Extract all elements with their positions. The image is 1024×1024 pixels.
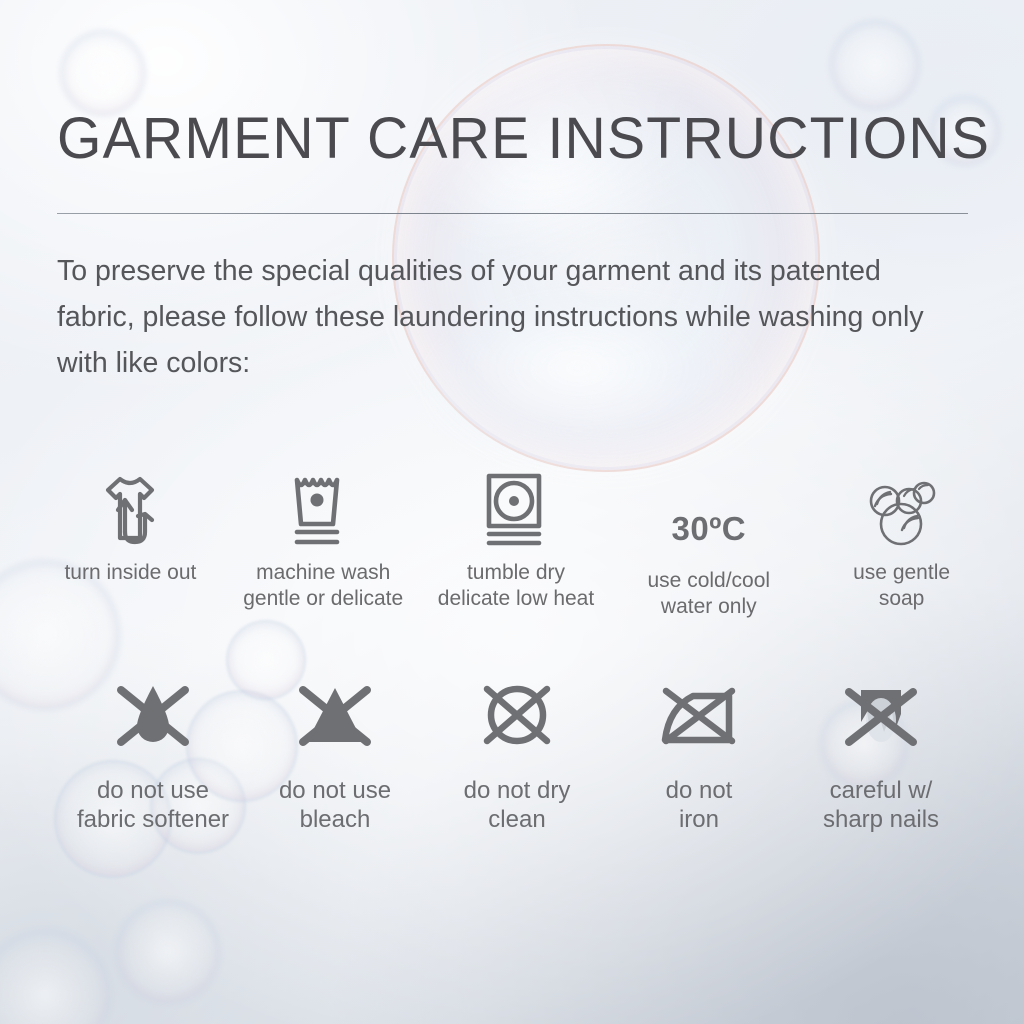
care-item-cold-water: 30ºC use cold/cool water only bbox=[612, 468, 805, 620]
care-item-label: do not use fabric softener bbox=[77, 776, 229, 834]
machine-wash-delicate-icon bbox=[287, 468, 359, 548]
care-item-machine-wash: machine wash gentle or delicate bbox=[227, 468, 420, 620]
tumble-dry-low-heat-icon bbox=[481, 468, 551, 548]
care-item-no-fabric-softener: do not use fabric softener bbox=[62, 668, 244, 834]
title-divider bbox=[57, 213, 968, 214]
no-dry-clean-icon bbox=[471, 668, 563, 760]
tshirt-turn-inside-out-icon bbox=[92, 468, 168, 548]
bubble-decor bbox=[0, 930, 110, 1024]
page-title: GARMENT CARE INSTRUCTIONS bbox=[57, 105, 963, 172]
care-item-label: do not dry clean bbox=[464, 776, 571, 834]
care-item-label: use gentle soap bbox=[853, 560, 950, 612]
bubble-decor bbox=[116, 900, 220, 1004]
soap-bubbles-icon bbox=[862, 468, 942, 548]
care-item-sharp-nails: careful w/ sharp nails bbox=[790, 668, 972, 834]
temperature-30c-icon: 30ºC bbox=[671, 468, 746, 556]
care-item-label: do not iron bbox=[666, 776, 733, 834]
care-item-label: do not use bleach bbox=[279, 776, 391, 834]
care-item-label: turn inside out bbox=[64, 560, 196, 586]
care-item-tumble-dry: tumble dry delicate low heat bbox=[420, 468, 613, 620]
bubble-decor bbox=[830, 20, 920, 110]
no-bleach-icon bbox=[289, 668, 381, 760]
care-row-1: turn inside out machine wash gentle or d… bbox=[34, 468, 998, 620]
no-iron-icon bbox=[653, 668, 745, 760]
care-item-no-iron: do not iron bbox=[608, 668, 790, 834]
bubble-decor bbox=[60, 30, 146, 116]
care-item-gentle-soap: use gentle soap bbox=[805, 468, 998, 620]
care-item-label: tumble dry delicate low heat bbox=[438, 560, 594, 612]
care-item-label: careful w/ sharp nails bbox=[823, 776, 939, 834]
care-item-no-dry-clean: do not dry clean bbox=[426, 668, 608, 834]
care-row-2: do not use fabric softener do not use bl… bbox=[62, 668, 972, 834]
intro-paragraph: To preserve the special qualities of you… bbox=[57, 248, 937, 386]
no-fabric-softener-icon bbox=[107, 668, 199, 760]
care-item-no-bleach: do not use bleach bbox=[244, 668, 426, 834]
garment-care-poster: GARMENT CARE INSTRUCTIONS To preserve th… bbox=[0, 0, 1024, 1024]
care-item-turn-inside-out: turn inside out bbox=[34, 468, 227, 620]
care-item-label: use cold/cool water only bbox=[648, 568, 771, 620]
no-sharp-nails-icon bbox=[835, 668, 927, 760]
care-item-label: machine wash gentle or delicate bbox=[243, 560, 403, 612]
